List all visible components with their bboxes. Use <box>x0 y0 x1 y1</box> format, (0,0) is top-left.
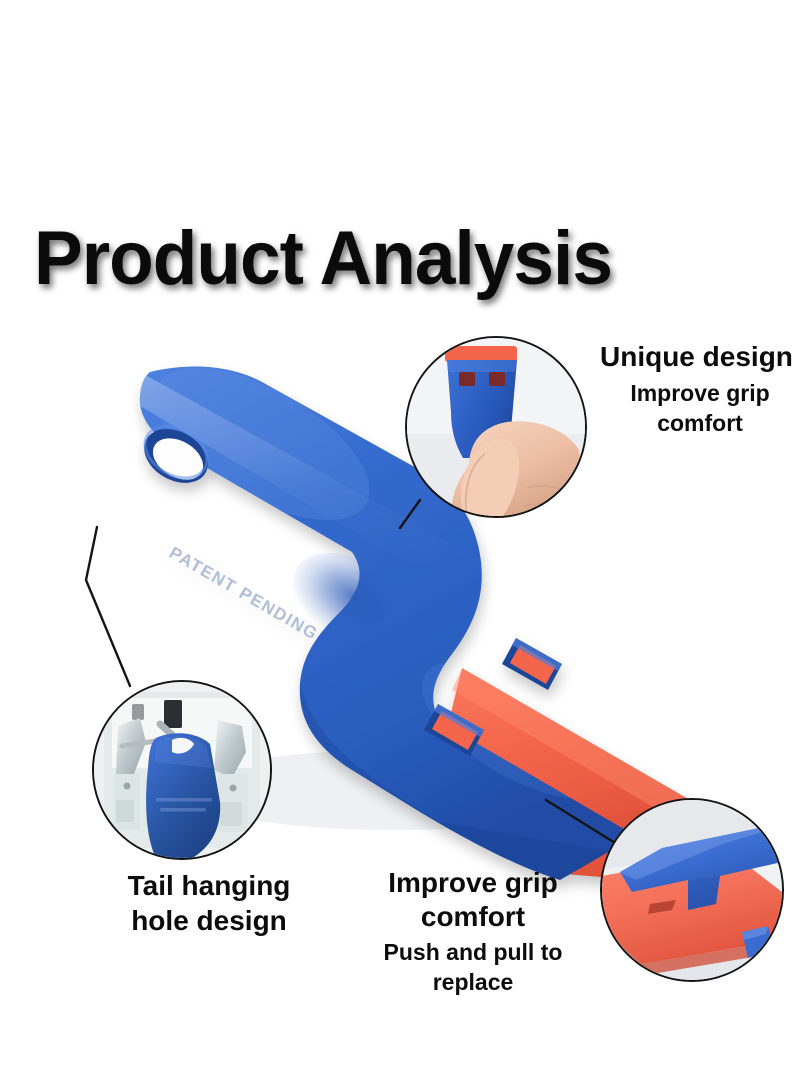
callout-improve-grip-line1: Improve grip <box>366 866 580 900</box>
callout-unique-design-sub-line1: Improve grip <box>600 378 800 408</box>
callout-improve-grip-comfort: Improve grip comfort Push and pull to re… <box>366 866 580 997</box>
callout-unique-design-heading: Unique design <box>600 340 800 374</box>
callout-unique-design-sub-line2: comfort <box>600 408 800 438</box>
callout-unique-design: Unique design Improve grip comfort <box>600 340 800 438</box>
callout-tail-hanging-line2: hole design <box>78 903 340 938</box>
callout-improve-grip-line2: comfort <box>366 900 580 934</box>
product-infographic: Product Analysis <box>0 0 800 1091</box>
callout-improve-grip-sub-line1: Push and pull to <box>366 937 580 967</box>
blade-slot-upper <box>502 638 562 690</box>
callout-tail-hanging-line1: Tail hanging <box>78 868 340 903</box>
callout-improve-grip-sub-line2: replace <box>366 967 580 997</box>
inset-hand-gripping-scraper <box>405 336 587 518</box>
inset-scraper-hanging-on-hook <box>92 680 272 860</box>
callout-tail-hanging-hole: Tail hanging hole design <box>78 868 340 938</box>
inset-blade-clip-closeup <box>600 798 784 982</box>
